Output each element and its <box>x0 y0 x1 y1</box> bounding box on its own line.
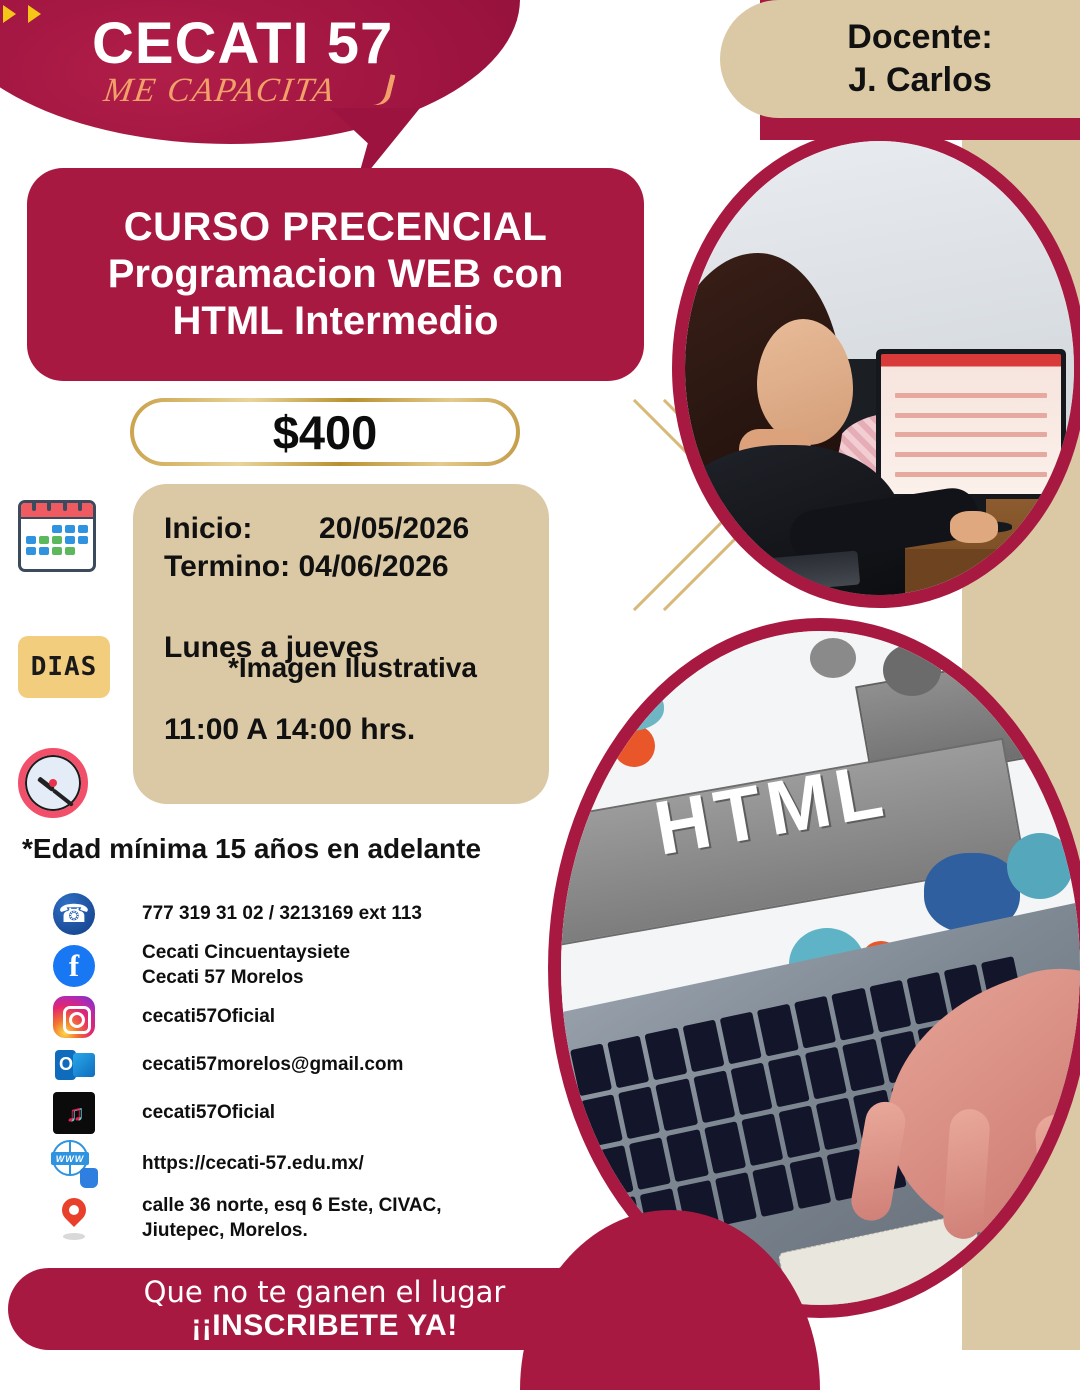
tiktok-icon <box>48 1092 100 1134</box>
arrow-icon <box>3 5 16 23</box>
calendar-icon <box>18 500 96 572</box>
start-date: Inicio: 20/05/2026 <box>164 510 549 548</box>
course-title-line3: HTML Intermedio <box>173 299 499 344</box>
days-icon: DIAS <box>18 636 110 698</box>
arrow-icon <box>28 5 41 23</box>
tiktok-text: cecati57Oficial <box>100 1101 275 1126</box>
contact-list: 777 319 31 02 / 3213169 ext 113 Cecati C… <box>48 893 548 1250</box>
html-illustration-photo: HTML <box>548 618 1080 1318</box>
age-requirement-note: *Edad mínima 15 años en adelante <box>22 833 481 865</box>
phone-text: 777 319 31 02 / 3213169 ext 113 <box>100 902 422 927</box>
contact-row-tiktok[interactable]: cecati57Oficial <box>48 1092 548 1134</box>
logo-subtitle: ME CAPACITA <box>101 72 338 110</box>
instagram-icon <box>48 996 100 1038</box>
website-icon: WWW <box>48 1140 100 1188</box>
contact-row-address[interactable]: calle 36 norte, esq 6 Este, CIVAC, Jiute… <box>48 1194 548 1243</box>
outlook-icon <box>48 1044 100 1086</box>
days-icon-label: DIAS <box>31 652 98 682</box>
facebook-text: Cecati Cincuentaysiete Cecati 57 Morelos <box>100 941 350 990</box>
contact-row-phone[interactable]: 777 319 31 02 / 3213169 ext 113 <box>48 893 548 935</box>
cta-line1: Que no te ganen el lugar <box>144 1275 506 1309</box>
course-title-card: CURSO PRECENCIAL Programacion WEB con HT… <box>27 168 644 381</box>
hours-text: 11:00 A 14:00 hrs. <box>164 711 549 749</box>
contact-row-facebook[interactable]: Cecati Cincuentaysiete Cecati 57 Morelos <box>48 941 548 990</box>
location-icon <box>48 1196 100 1242</box>
email-text: cecati57morelos@gmail.com <box>100 1053 403 1078</box>
website-text: https://cecati-57.edu.mx/ <box>100 1152 364 1177</box>
address-text: calle 36 norte, esq 6 Este, CIVAC, Jiute… <box>100 1194 442 1243</box>
contact-row-instagram[interactable]: cecati57Oficial <box>48 996 548 1038</box>
student-photo <box>672 128 1080 608</box>
flyer-canvas: Docente: J. Carlos <box>0 0 1080 1350</box>
image-caption: *Imagen Ilustrativa <box>228 652 477 684</box>
logo-title: CECATI 57 <box>92 10 393 77</box>
docente-name: J. Carlos <box>848 61 992 100</box>
price-value: $400 <box>273 405 378 460</box>
facebook-icon <box>48 945 100 987</box>
schedule-card: Inicio: 20/05/2026 Termino: 04/06/2026 L… <box>133 484 549 804</box>
contact-row-email[interactable]: cecati57morelos@gmail.com <box>48 1044 548 1086</box>
cta-line2: ¡¡INSCRIBETE YA! <box>191 1309 457 1343</box>
docente-label: Docente: <box>847 18 992 57</box>
clock-icon <box>18 748 88 818</box>
instagram-text: cecati57Oficial <box>100 1005 275 1030</box>
end-date: Termino: 04/06/2026 <box>164 548 549 586</box>
course-title-line1: CURSO PRECENCIAL <box>124 205 548 250</box>
contact-row-website[interactable]: WWW https://cecati-57.edu.mx/ <box>48 1140 548 1188</box>
course-title-line2: Programacion WEB con <box>108 252 564 297</box>
phone-icon <box>48 893 100 935</box>
docente-panel: Docente: J. Carlos <box>720 0 1080 118</box>
price-badge: $400 <box>130 398 520 466</box>
